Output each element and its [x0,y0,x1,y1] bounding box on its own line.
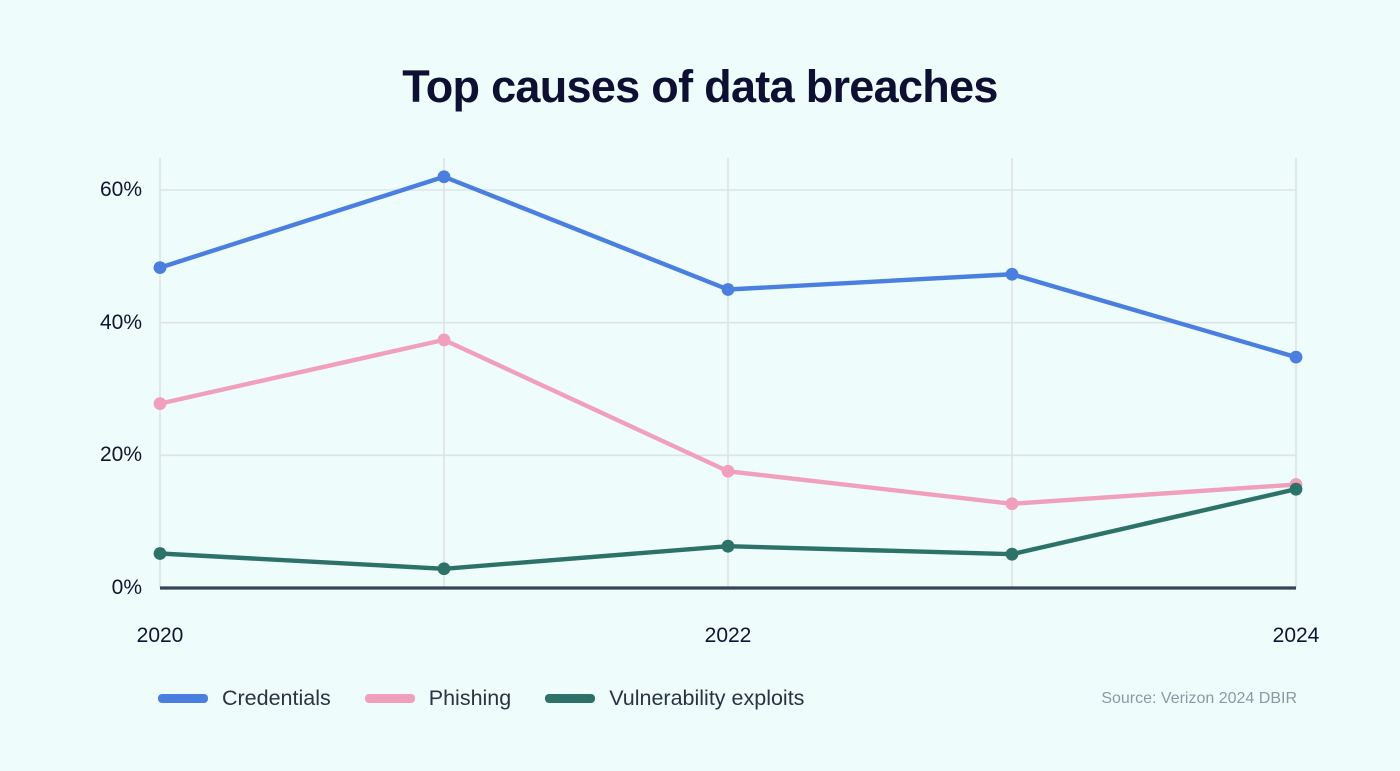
legend-swatch-icon [545,694,595,703]
data-point-marker[interactable] [1006,497,1019,510]
y-tick-label: 20% [72,443,142,467]
data-point-marker[interactable] [154,397,167,410]
data-point-marker[interactable] [722,283,735,296]
y-tick-label: 0% [72,576,142,600]
vertical-gridlines [160,158,1296,588]
y-tick-label: 60% [72,178,142,202]
data-point-marker[interactable] [438,170,451,183]
data-point-marker[interactable] [1290,351,1303,364]
y-tick-label: 40% [72,311,142,335]
data-point-marker[interactable] [1006,548,1019,561]
legend-item[interactable]: Credentials [158,686,331,711]
x-tick-label: 2024 [1273,624,1320,648]
legend-item[interactable]: Phishing [365,686,511,711]
chart-figure: Top causes of data breaches 0%20%40%60% … [0,0,1400,771]
x-tick-label: 2022 [705,624,752,648]
legend-swatch-icon [365,694,415,703]
x-tick-label: 2020 [137,624,184,648]
legend-label: Phishing [429,686,511,711]
legend-label: Vulnerability exploits [609,686,804,711]
data-point-marker[interactable] [438,334,451,347]
y-axis-tick-labels: 0%20%40%60% [72,0,142,771]
source-note: Source: Verizon 2024 DBIR [1101,690,1297,708]
legend-swatch-icon [158,694,208,703]
data-point-marker[interactable] [1290,483,1303,496]
data-point-marker[interactable] [438,562,451,575]
chart-legend: CredentialsPhishingVulnerability exploit… [158,686,838,711]
legend-label: Credentials [222,686,331,711]
line-chart-plot [0,0,1400,771]
data-point-marker[interactable] [1006,268,1019,281]
data-point-marker[interactable] [722,465,735,478]
data-point-marker[interactable] [154,547,167,560]
data-point-marker[interactable] [154,261,167,274]
legend-item[interactable]: Vulnerability exploits [545,686,804,711]
data-point-marker[interactable] [722,540,735,553]
